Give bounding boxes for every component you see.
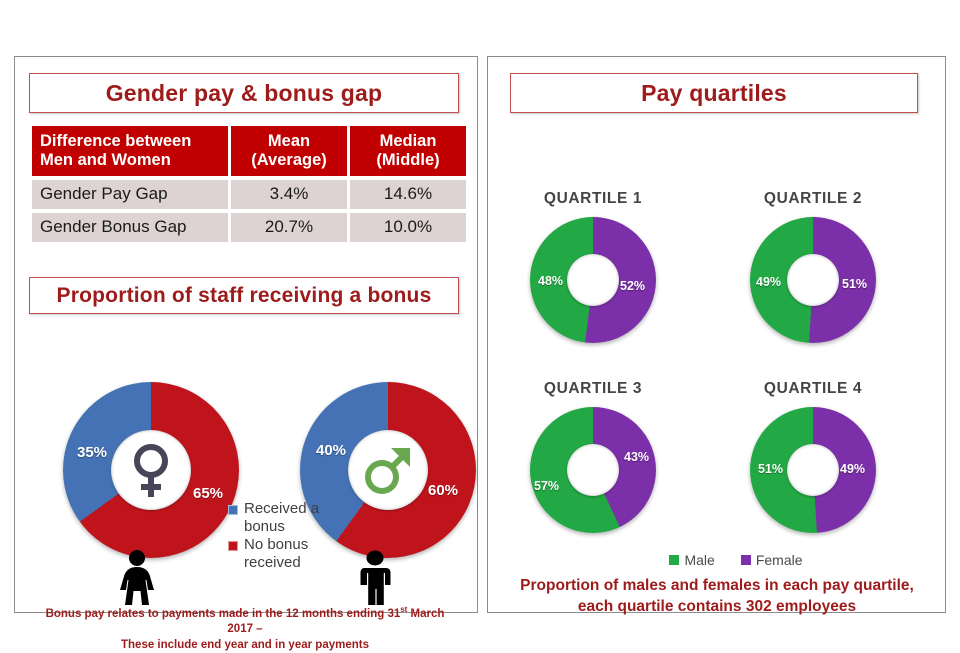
quartile-caption: Proportion of males and females in each …: [502, 576, 932, 618]
pay-gap-title-banner: Gender pay & bonus gap: [29, 73, 459, 113]
pay-quartiles-title: Pay quartiles: [641, 80, 787, 107]
quartile-caption-line1: Proportion of males and females in each …: [520, 577, 914, 594]
donut-chart-quartile-1: 48% 52%: [530, 217, 656, 343]
legend-label-no-bonus: No bonus received: [244, 536, 336, 571]
quartile-1-female-label: 52%: [620, 279, 645, 293]
quartile-1-title: QUARTILE 1: [508, 190, 678, 208]
row-label-bonus-gap: Gender Bonus Gap: [32, 212, 228, 242]
legend-item-male: Male: [669, 552, 714, 568]
quartile-2-title: QUARTILE 2: [728, 190, 898, 208]
male-received-label: 40%: [316, 442, 346, 459]
male-pictogram-icon: [353, 549, 397, 610]
cell-pay-gap-mean: 3.4%: [231, 179, 347, 209]
cell-bonus-gap-mean: 20.7%: [231, 212, 347, 242]
cell-bonus-gap-median: 10.0%: [350, 212, 466, 242]
legend-label-male: Male: [684, 552, 714, 568]
gender-gap-table: Difference between Men and Women Mean (A…: [29, 123, 469, 245]
footnote-line1-a: Bonus pay relates to payments made in th…: [46, 608, 401, 620]
bonus-proportion-title: Proportion of staff receiving a bonus: [57, 284, 432, 308]
legend-item-female: Female: [741, 552, 803, 568]
bonus-legend: Received a bonus No bonus received: [228, 500, 336, 573]
venus-symbol-icon: [111, 430, 191, 510]
bonus-proportion-title-banner: Proportion of staff receiving a bonus: [29, 277, 459, 314]
quartile-4-male-label: 51%: [758, 462, 783, 476]
donut-chart-quartile-2: 49% 51%: [750, 217, 876, 343]
quartile-3-title: QUARTILE 3: [508, 380, 678, 398]
header-median: Median (Middle): [350, 126, 466, 176]
legend-swatch-purple: [741, 555, 751, 565]
female-pictogram-icon: [115, 549, 159, 610]
row-label-pay-gap: Gender Pay Gap: [32, 179, 228, 209]
pay-quartiles-panel: Pay quartiles QUARTILE 1 QUARTILE 2 QUAR…: [487, 56, 946, 613]
donut-chart-quartile-4: 51% 49%: [750, 407, 876, 533]
mars-symbol-icon: [348, 430, 428, 510]
quartile-1-male-label: 48%: [538, 274, 563, 288]
donut-hole: [348, 430, 428, 510]
female-received-label: 35%: [77, 444, 107, 461]
legend-label-received: Received a bonus: [244, 500, 336, 535]
donut-hole: [567, 254, 619, 306]
quartile-3-male-label: 57%: [534, 479, 559, 493]
header-mean: Mean (Average): [231, 126, 347, 176]
infographic-root: Gender pay & bonus gap Difference betwee…: [0, 0, 960, 640]
donut-hole: [567, 444, 619, 496]
quartile-2-female-label: 51%: [842, 277, 867, 291]
legend-swatch-green: [669, 555, 679, 565]
donut-hole: [787, 254, 839, 306]
legend-item-received: Received a bonus: [228, 500, 336, 535]
gender-pay-panel: Gender pay & bonus gap Difference betwee…: [14, 56, 478, 613]
legend-item-no-bonus: No bonus received: [228, 536, 336, 571]
table-row: Gender Pay Gap 3.4% 14.6%: [32, 179, 466, 209]
table-row: Gender Bonus Gap 20.7% 10.0%: [32, 212, 466, 242]
legend-label-female: Female: [756, 552, 803, 568]
bonus-footnote: Bonus pay relates to payments made in th…: [33, 605, 457, 653]
legend-swatch-red: [228, 541, 238, 551]
pay-gap-title: Gender pay & bonus gap: [106, 80, 383, 107]
footnote-line2: These include end year and in year payme…: [121, 639, 369, 651]
female-not-received-label: 65%: [193, 485, 223, 502]
quartile-legend: Male Female: [636, 552, 836, 568]
table-header-row: Difference between Men and Women Mean (A…: [32, 126, 466, 176]
quartile-4-title: QUARTILE 4: [728, 380, 898, 398]
legend-swatch-blue: [228, 505, 238, 515]
pay-quartiles-title-banner: Pay quartiles: [510, 73, 918, 113]
header-difference: Difference between Men and Women: [32, 126, 228, 176]
male-not-received-label: 60%: [428, 482, 458, 499]
cell-pay-gap-median: 14.6%: [350, 179, 466, 209]
donut-chart-quartile-3: 57% 43%: [530, 407, 656, 533]
quartile-4-female-label: 49%: [840, 462, 865, 476]
quartile-3-female-label: 43%: [624, 450, 649, 464]
donut-hole: [111, 430, 191, 510]
quartile-2-male-label: 49%: [756, 275, 781, 289]
quartile-caption-line2: each quartile contains 302 employees: [578, 598, 856, 615]
donut-chart-female-bonus: 35% 65%: [63, 382, 239, 558]
donut-hole: [787, 444, 839, 496]
